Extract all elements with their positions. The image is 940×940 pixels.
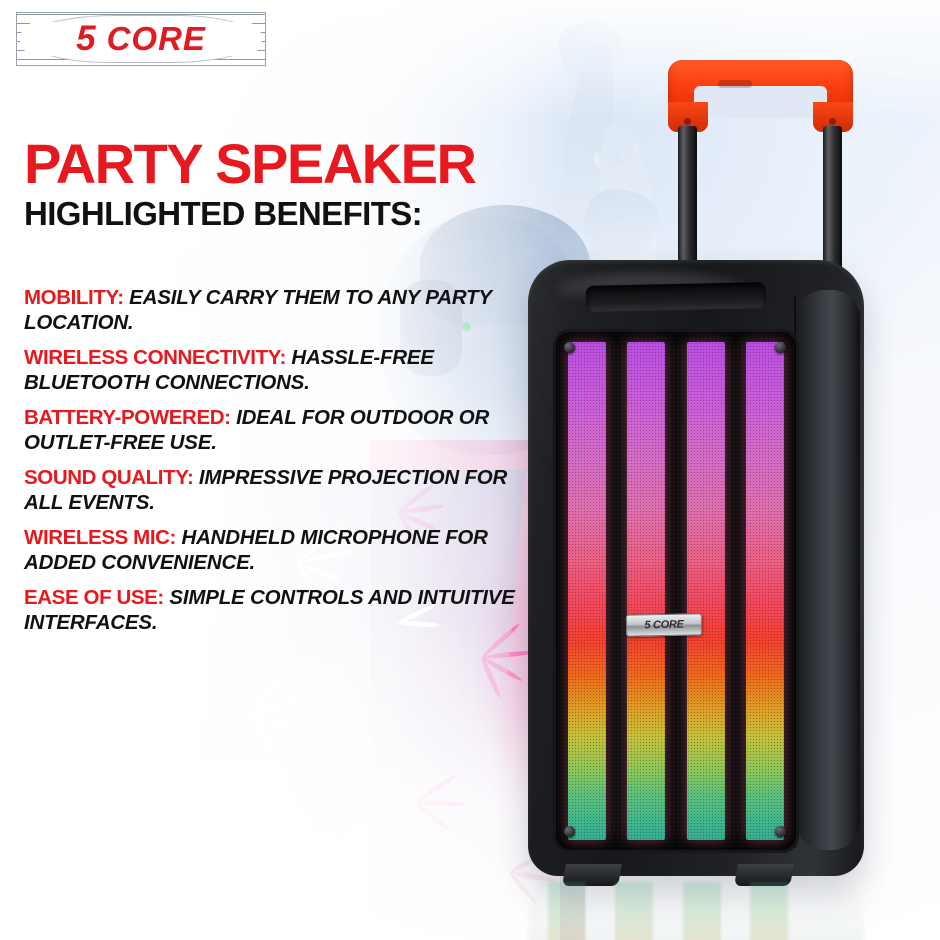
- page-title: PARTY SPEAKER: [24, 136, 475, 192]
- benefit-label: WIRELESS CONNECTIVITY:: [24, 346, 286, 369]
- led-light-bars: [568, 342, 784, 840]
- speaker-grille: [556, 332, 796, 850]
- benefit-item: WIRELESS MIC: HANDHELD MICROPHONE FOR AD…: [24, 525, 524, 575]
- led-bar: [746, 342, 784, 840]
- benefit-label: EASE OF USE:: [24, 586, 164, 609]
- led-bar: [687, 342, 725, 840]
- brand-logo: 5 CORE: [16, 12, 266, 66]
- led-bar: [568, 342, 606, 840]
- cabinet-carry-grip: [586, 282, 767, 312]
- benefit-item: SOUND QUALITY: IMPRESSIVE PROJECTION FOR…: [24, 465, 524, 515]
- page-subtitle: HIGHLIGHTED BENEFITS:: [24, 197, 422, 230]
- grille-screw: [564, 342, 575, 353]
- logo-word: CORE: [107, 20, 206, 58]
- product-nameplate-badge: 5 CORE: [626, 613, 702, 636]
- handle-screw-left: [684, 118, 691, 125]
- benefit-label: MOBILITY:: [24, 286, 124, 309]
- logo-number: 5: [76, 19, 96, 59]
- benefit-item: EASE OF USE: SIMPLE CONTROLS AND INTUITI…: [24, 585, 524, 635]
- benefit-item: WIRELESS CONNECTIVITY: HASSLE-FREE BLUET…: [24, 345, 524, 395]
- product-reflection-leds: [548, 882, 788, 940]
- benefit-label: WIRELESS MIC:: [24, 526, 176, 549]
- handle-screw-right: [829, 118, 836, 125]
- benefit-item: MOBILITY: EASILY CARRY THEM TO ANY PARTY…: [24, 285, 524, 335]
- cabinet-side-panel: [796, 290, 860, 850]
- speaker-cabinet: 5 CORE: [528, 260, 864, 876]
- handle-grip-notch: [718, 80, 752, 88]
- benefit-item: BATTERY-POWERED: IDEAL FOR OUTDOOR OR OU…: [24, 405, 524, 455]
- benefit-label: SOUND QUALITY:: [24, 466, 193, 489]
- benefit-label: BATTERY-POWERED:: [24, 406, 231, 429]
- grille-screw: [564, 826, 575, 837]
- led-bar: [627, 342, 665, 840]
- grille-screw: [775, 826, 786, 837]
- grille-screw: [775, 342, 786, 353]
- promo-banner: 5 CORE PARTY SPEAKER HIGHLIGHTED BENEFIT…: [0, 0, 940, 940]
- party-speaker-product: 5 CORE: [508, 52, 908, 902]
- benefits-list: MOBILITY: EASILY CARRY THEM TO ANY PARTY…: [24, 285, 524, 645]
- logo-wordmark: 5 CORE: [16, 12, 266, 66]
